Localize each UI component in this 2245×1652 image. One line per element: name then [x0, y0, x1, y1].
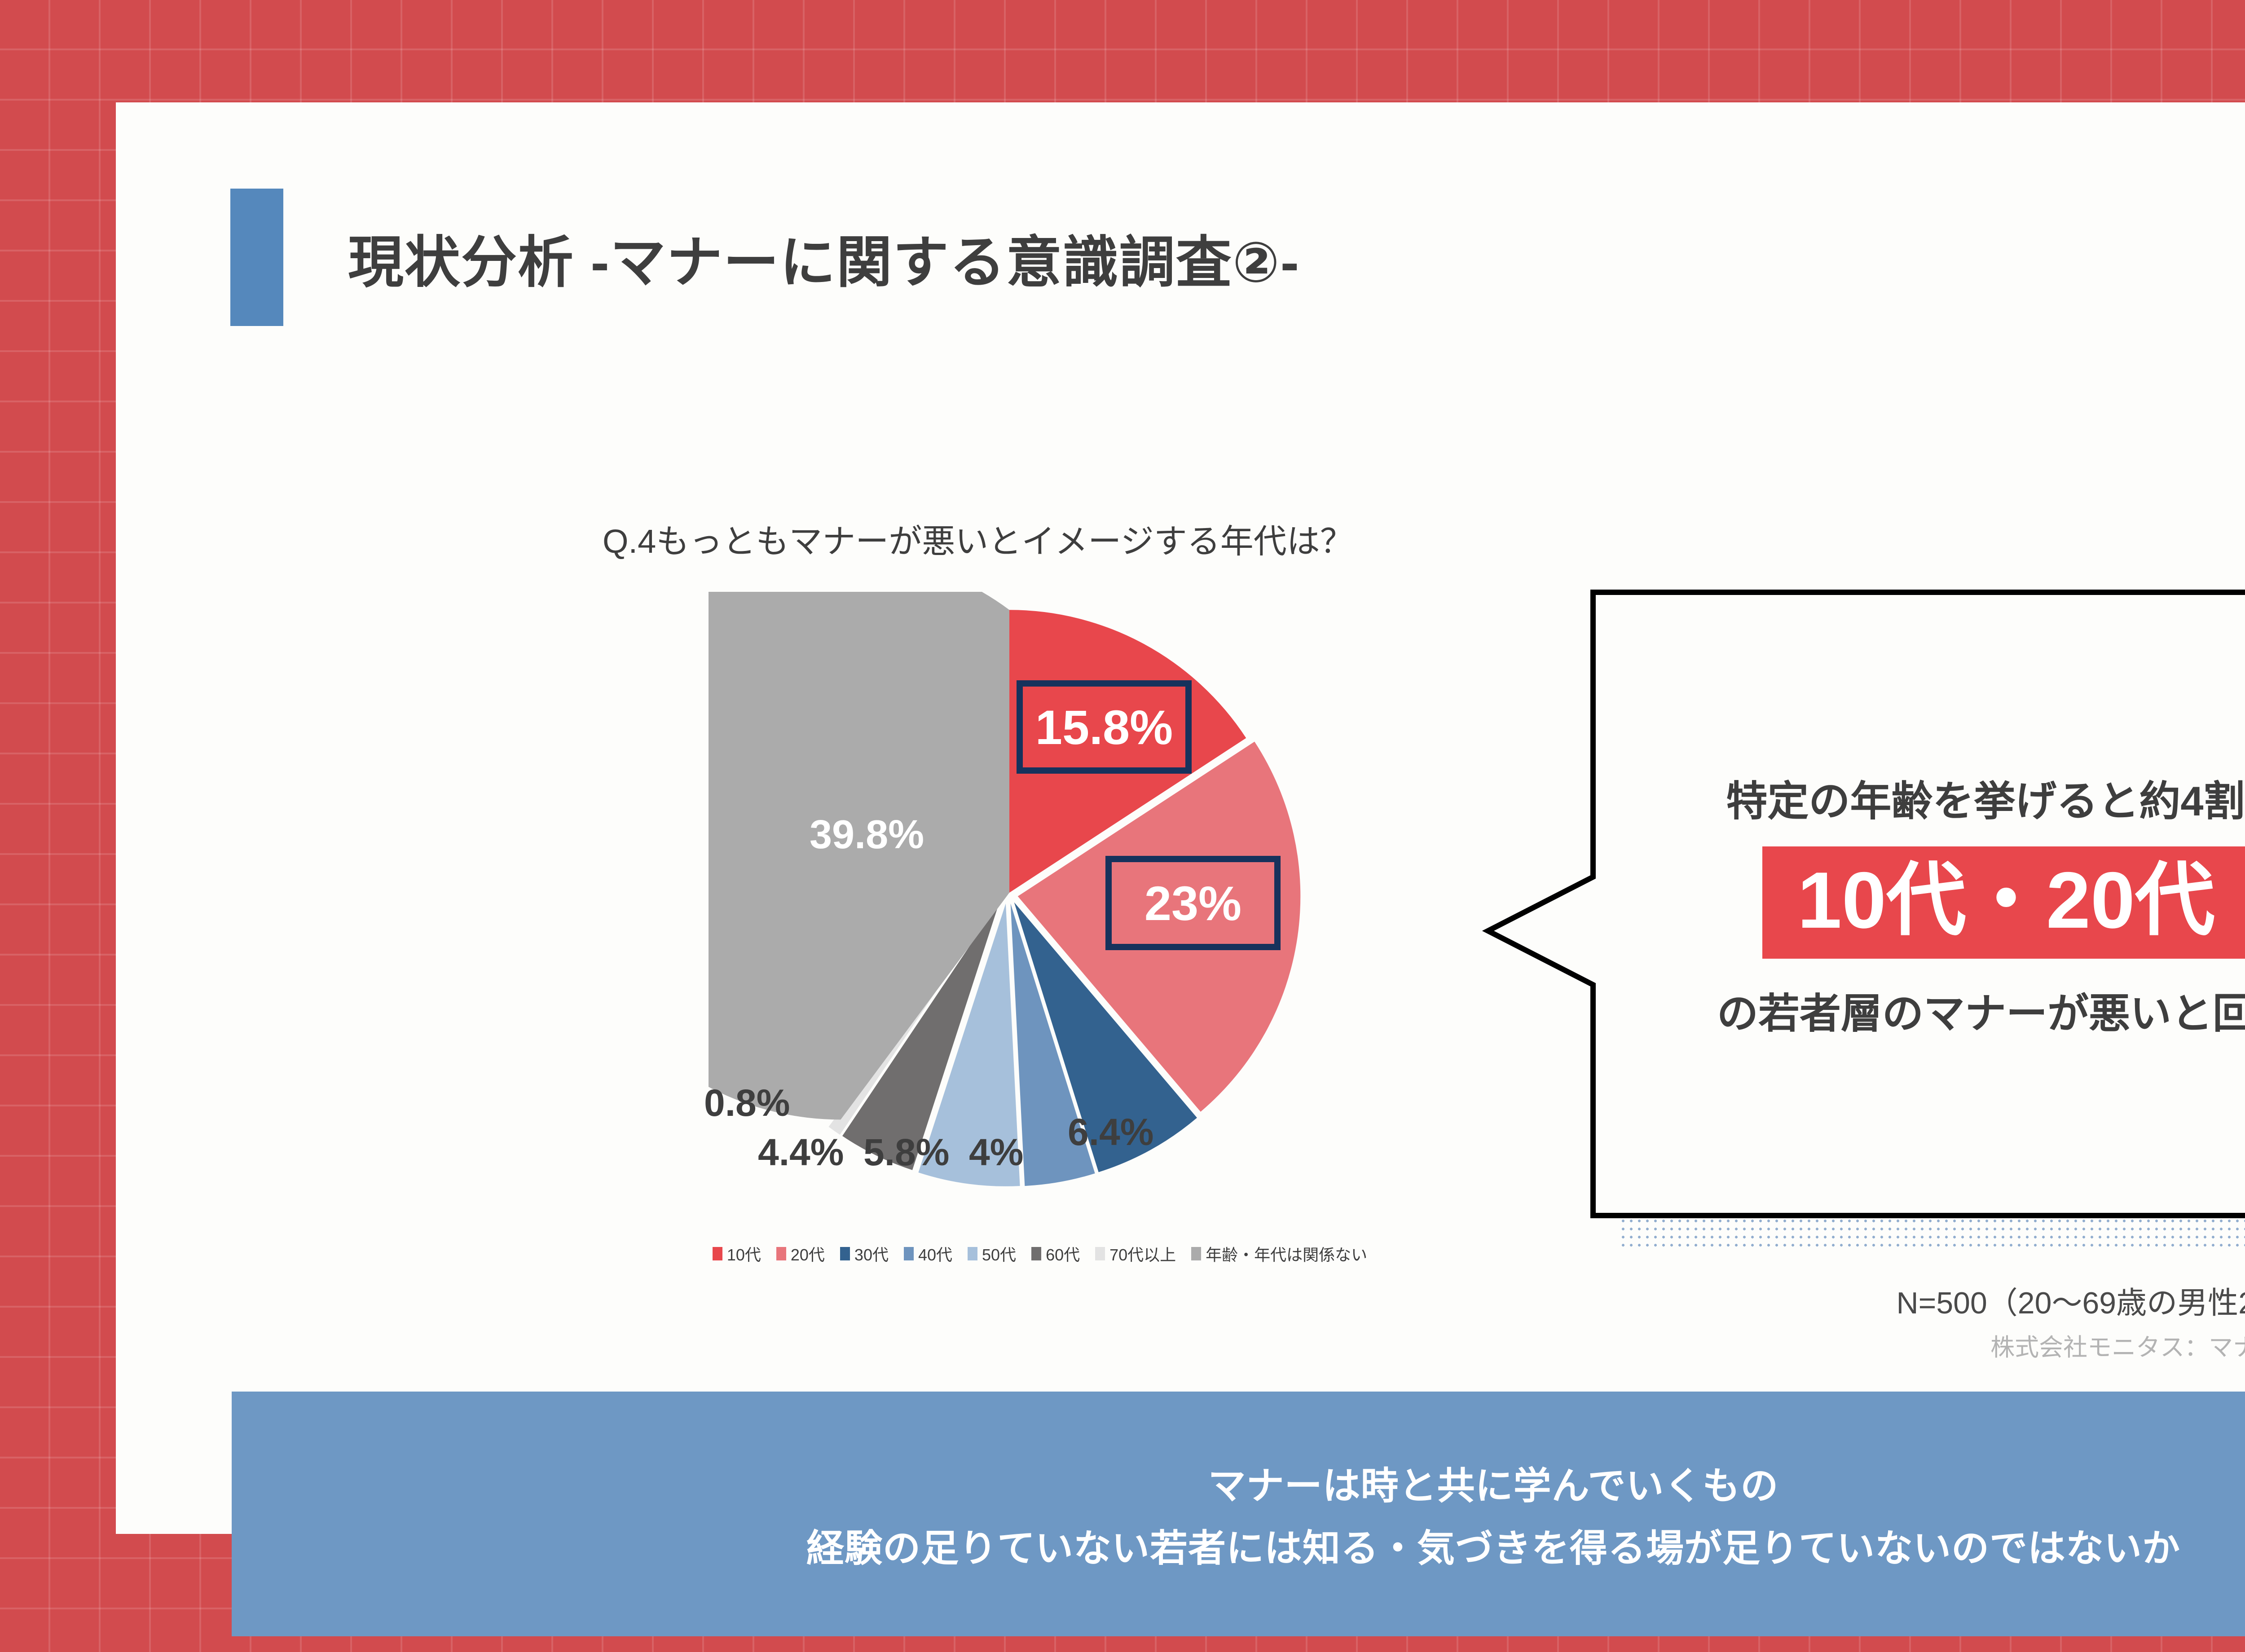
legend-swatch-icon [713, 1247, 722, 1260]
chart-question-label: Q.4もっともマナーが悪いとイメージする年代は？ [603, 515, 1353, 563]
conclusion-line-1: マナーは時と共に学んでいくもの [1208, 1456, 1779, 1510]
pie-label-30dai: 6.4% [1068, 1110, 1153, 1154]
conclusion-banner: マナーは時と共に学んでいくもの 経験の足りていない若者には知る・気づきを得る場が… [232, 1392, 2245, 1636]
legend-item-nenrei-kankei-nai[interactable]: 年齢・年代は関係ない [1191, 1242, 1367, 1265]
source-credit-note: 株式会社モニタス：マナーに関する意識調査より [1990, 1327, 2245, 1363]
callout-highlight: 10代・20代 [1762, 846, 2245, 959]
slide-canvas: 現状分析 -マナーに関する意識調査②- Q.4もっともマナーが悪いとイメージする… [116, 102, 2245, 1534]
legend-swatch-icon [1031, 1247, 1041, 1260]
pie-highlight-box-10dai: 15.8% [1017, 680, 1192, 774]
conclusion-line-2: 経験の足りていない若者には知る・気づきを得る場が足りていないのではないか [806, 1518, 2180, 1573]
callout-line-3: の若者層のマナーが悪いと回答 [1717, 980, 2245, 1040]
legend-item-40dai[interactable]: 40代 [904, 1242, 952, 1265]
legend-label: 50代 [982, 1242, 1016, 1265]
legend-item-70dai-ijou[interactable]: 70代以上 [1095, 1242, 1176, 1265]
pie-label-nenrei-kankei-nai: 39.8% [810, 812, 924, 858]
pie-label-70dai-ijou: 0.8% [704, 1081, 790, 1125]
title-accent-bar [230, 189, 283, 326]
callout-line-1: 特定の年齢を挙げると約4割が [1726, 768, 2245, 828]
legend-swatch-icon [840, 1247, 850, 1260]
legend-item-20dai[interactable]: 20代 [776, 1242, 825, 1265]
legend-item-50dai[interactable]: 50代 [968, 1242, 1016, 1265]
legend-label: 年齢・年代は関係ない [1206, 1242, 1367, 1265]
legend-swatch-icon [904, 1247, 914, 1260]
legend-label: 30代 [854, 1242, 889, 1265]
chart-legend: 10代 20代 30代 40代 50代 60代 70代以上 年齢・年代は関係な [537, 1242, 1543, 1265]
legend-item-30dai[interactable]: 30代 [840, 1242, 889, 1265]
legend-swatch-icon [1095, 1247, 1105, 1260]
legend-label: 40代 [918, 1242, 952, 1265]
pie-label-60dai: 4.4% [758, 1131, 844, 1174]
sample-size-note: N=500（20〜69歳の男性250人・女性250人） [1897, 1278, 2245, 1322]
legend-item-60dai[interactable]: 60代 [1031, 1242, 1080, 1265]
pie-label-50dai: 5.8% [863, 1131, 949, 1174]
pie-label-40dai: 4% [969, 1131, 1023, 1174]
legend-swatch-icon [776, 1247, 786, 1260]
callout-content: 特定の年齢を挙げると約4割が 10代・20代 の若者層のマナーが悪いと回答 [1593, 590, 2245, 1218]
page-title: 現状分析 -マナーに関する意識調査②- [348, 217, 1300, 298]
legend-label: 20代 [791, 1242, 825, 1265]
legend-label: 70代以上 [1109, 1242, 1176, 1265]
legend-item-10dai[interactable]: 10代 [713, 1242, 761, 1265]
legend-swatch-icon [1191, 1247, 1201, 1260]
page-title-row: 現状分析 -マナーに関する意識調査②- [230, 189, 1300, 326]
legend-label: 10代 [727, 1242, 761, 1265]
callout-bubble: 特定の年齢を挙げると約4割が 10代・20代 の若者層のマナーが悪いと回答 [1593, 590, 2245, 1218]
legend-swatch-icon [968, 1247, 977, 1260]
legend-label: 60代 [1046, 1242, 1080, 1265]
pie-highlight-box-20dai: 23% [1105, 856, 1281, 950]
